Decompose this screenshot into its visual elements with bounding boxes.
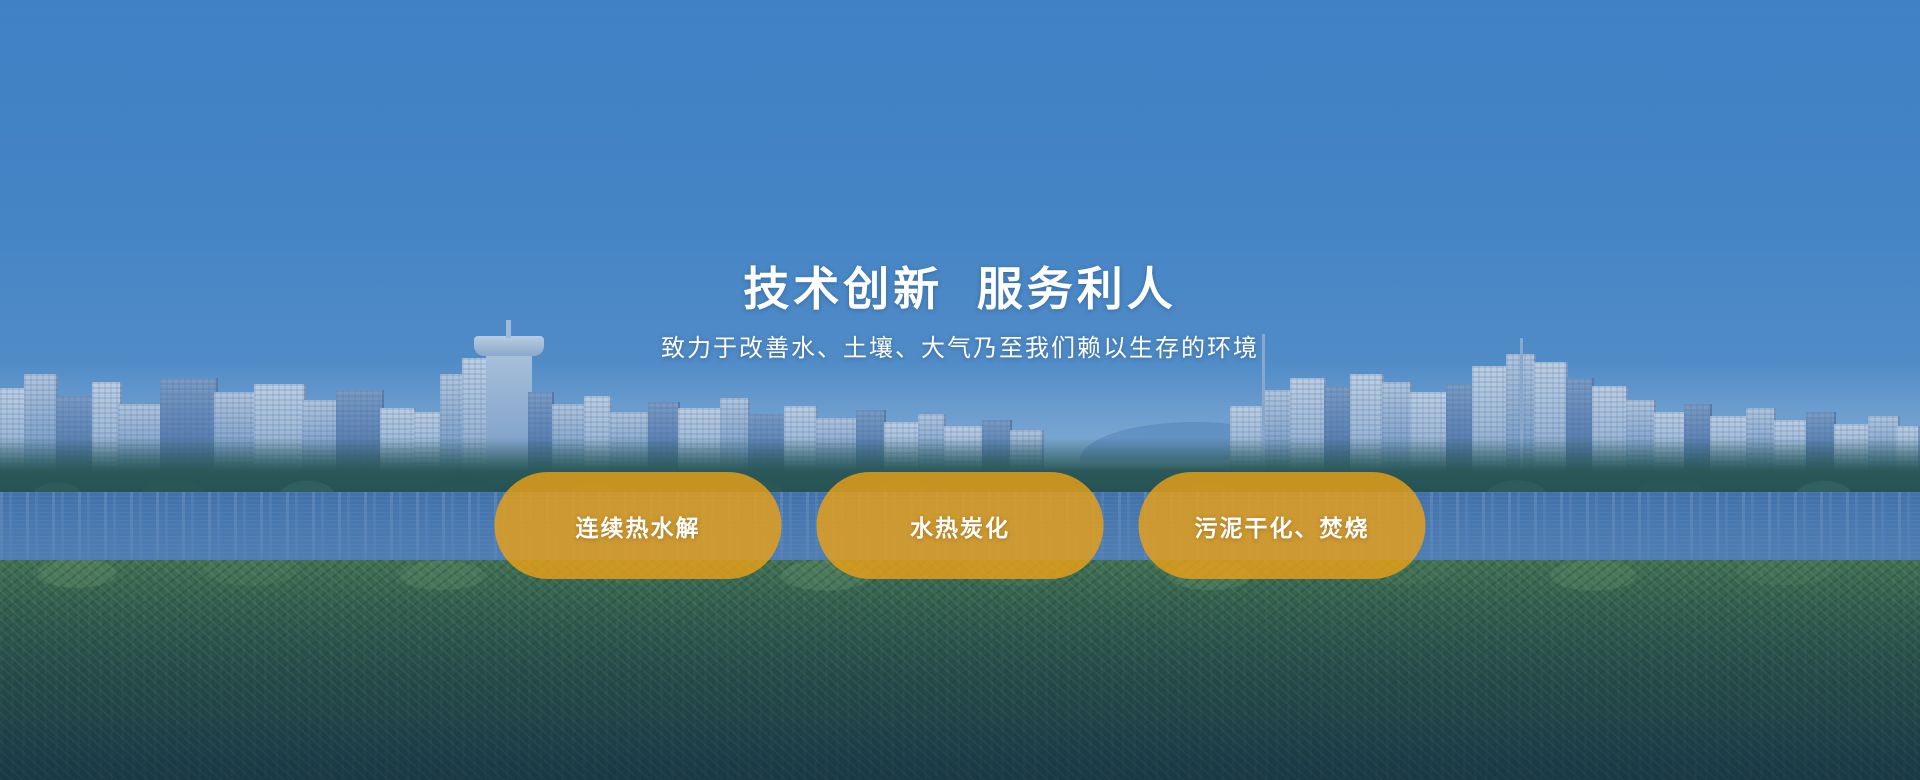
hero-banner: 技术创新 服务利人 致力于改善水、土壤、大气乃至我们赖以生存的环境 连续热水解 …: [0, 0, 1920, 780]
hero-content: 技术创新 服务利人 致力于改善水、土壤、大气乃至我们赖以生存的环境: [0, 0, 1920, 780]
hero-button-sludge-drying-incineration[interactable]: 污泥干化、焚烧: [1139, 472, 1426, 579]
hero-button-group: 连续热水解 水热炭化 污泥干化、焚烧: [495, 472, 1426, 579]
hero-title: 技术创新 服务利人: [743, 264, 1177, 315]
hero-subtitle: 致力于改善水、土壤、大气乃至我们赖以生存的环境: [661, 333, 1259, 364]
hero-button-hydrothermal-carbonization[interactable]: 水热炭化: [817, 472, 1104, 579]
hero-button-continuous-thermal-hydrolysis[interactable]: 连续热水解: [495, 472, 782, 579]
